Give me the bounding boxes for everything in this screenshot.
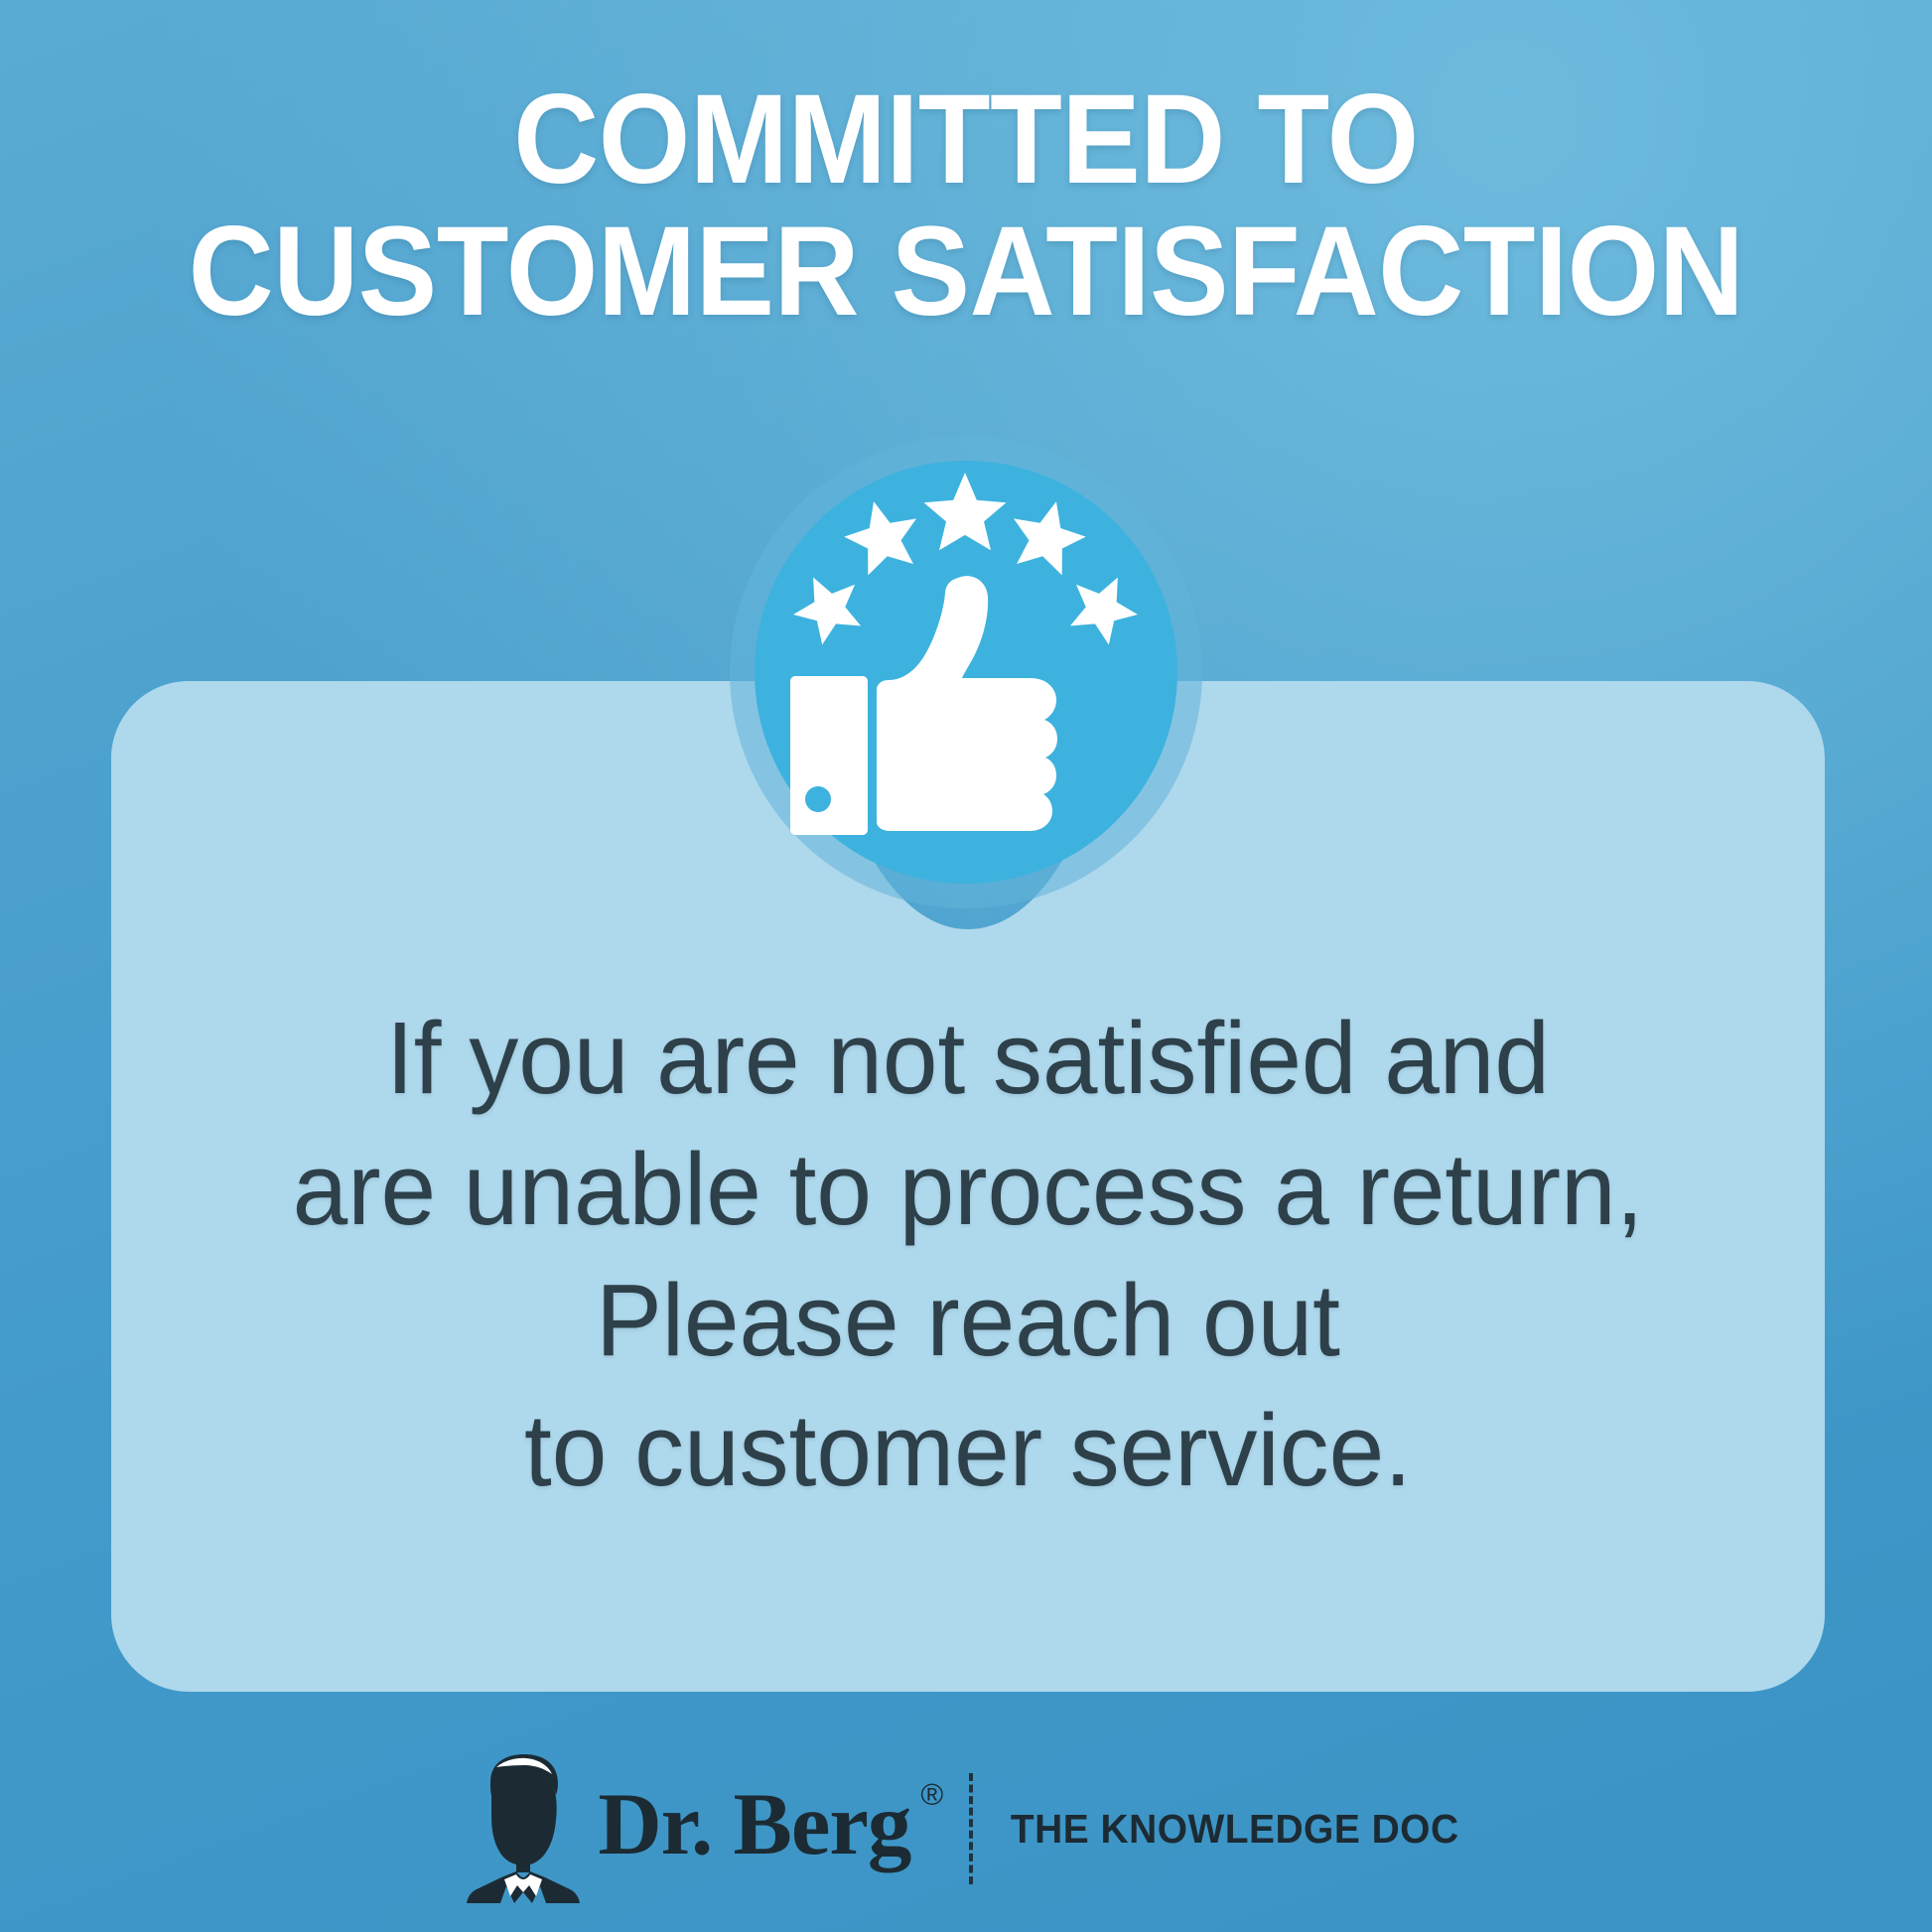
brand-lockup: Dr. Berg ® THE KNOWLEDGE DOC [0,1749,1932,1908]
headline-line-1: COMMITTED TO [68,77,1864,204]
poster-root: COMMITTED TO CUSTOMER SATISFACTION [0,0,1932,1932]
dr-berg-portrait-icon [461,1754,584,1903]
message-line-2: are unable to process a return, [137,1124,1799,1255]
cuff-icon [790,676,868,835]
registered-mark-icon: ® [920,1777,943,1813]
logo-divider [969,1773,973,1884]
cuff-button-icon [805,786,831,812]
thumbs-up-five-stars-icon [728,434,1204,910]
message-line-4: to customer service. [137,1385,1799,1516]
page-title: COMMITTED TO CUSTOMER SATISFACTION [0,77,1932,335]
message-line-1: If you are not satisfied and [137,993,1799,1124]
message-text: If you are not satisfied and are unable … [111,993,1825,1516]
brand-tagline: THE KNOWLEDGE DOC [1011,1806,1459,1853]
headline-line-2: CUSTOMER SATISFACTION [68,209,1864,336]
brand-wordmark: Dr. Berg [598,1781,910,1869]
message-line-3: Please reach out [137,1255,1799,1386]
badge-graphic [728,434,1204,910]
